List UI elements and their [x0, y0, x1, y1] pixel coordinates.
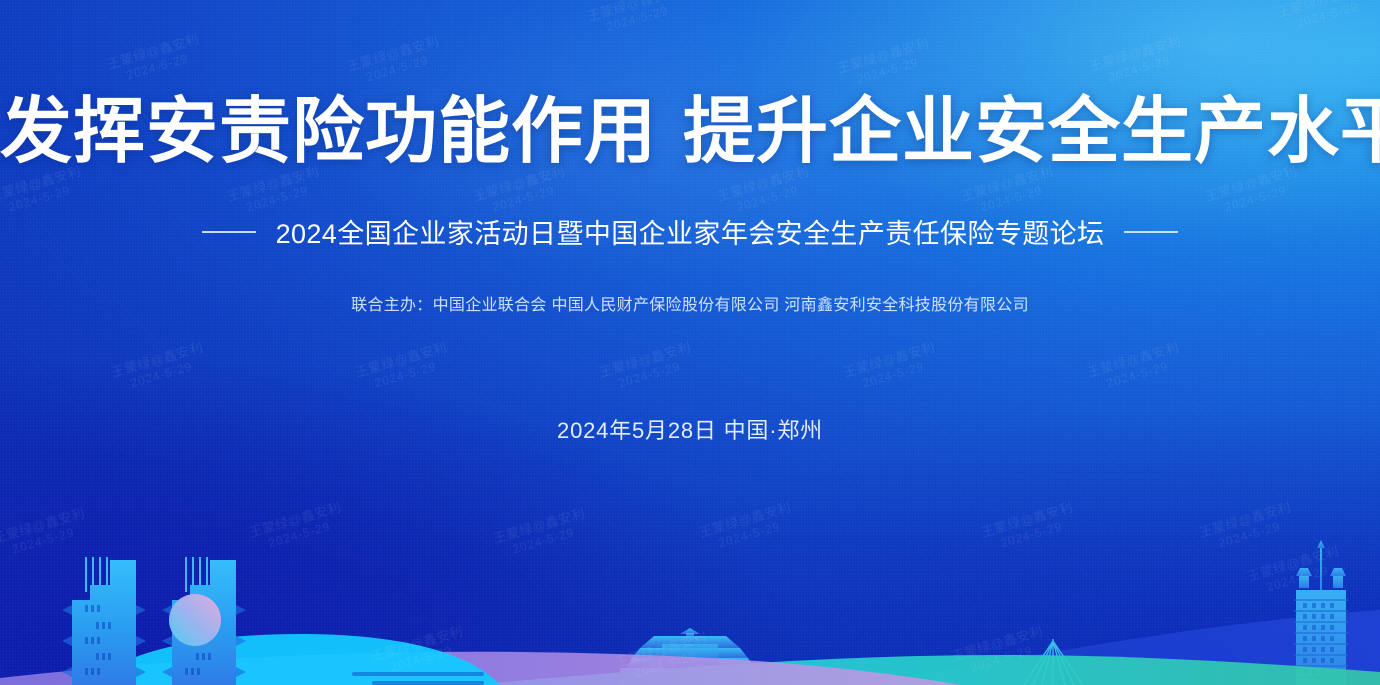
subtitle-rule-left — [202, 231, 256, 233]
organizers-line: 联合主办：中国企业联合会 中国人民财产保险股份有限公司 河南鑫安利安全科技股份有… — [0, 291, 1380, 315]
main-title-part2: 提升企业安全生产水平 — [683, 92, 1380, 172]
date-location-line: 2024年5月28日 中国·郑州 — [0, 413, 1380, 445]
poster-canvas: 王蒙绿@鑫安利 2024-5-29 王蒙绿@鑫安利 2024-5-29 王蒙绿@… — [0, 0, 1380, 685]
main-title-part1: 发挥安责险功能作用 — [0, 92, 657, 172]
subtitle: 2024全国企业家活动日暨中国企业家年会安全生产责任保险专题论坛 — [276, 212, 1105, 251]
subtitle-row: 2024全国企业家活动日暨中国企业家年会安全生产责任保险专题论坛 — [0, 212, 1380, 251]
main-title: 发挥安责险功能作用提升企业安全生产水平 — [0, 96, 1380, 168]
subtitle-rule-right — [1124, 231, 1178, 233]
